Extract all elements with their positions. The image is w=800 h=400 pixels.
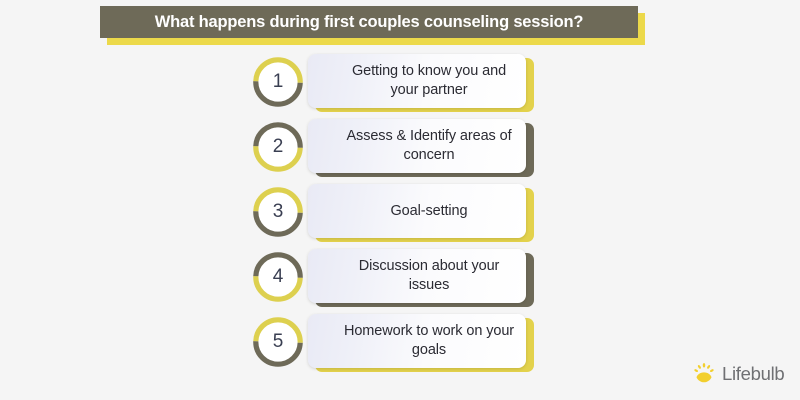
title-bar: What happens during first couples counse… [100,6,638,38]
brand-name: Lifebulb [722,363,784,385]
page-title: What happens during first couples counse… [100,6,638,38]
step-card[interactable]: Discussion about your issues [308,249,526,303]
step-label: Getting to know you and your partner [342,62,516,99]
step-item[interactable]: Discussion about your issues4 [253,249,538,305]
step-label: Goal-setting [391,202,468,221]
step-number: 5 [253,317,303,367]
step-item[interactable]: Getting to know you and your partner1 [253,54,538,110]
step-card[interactable]: Goal-setting [308,184,526,238]
step-card[interactable]: Getting to know you and your partner [308,54,526,108]
step-item[interactable]: Homework to work on your goals5 [253,314,538,370]
step-item[interactable]: Assess & Identify areas of concern2 [253,119,538,175]
brand-logo: Lifebulb [692,362,784,386]
step-label: Assess & Identify areas of concern [342,127,516,164]
step-label: Discussion about your issues [342,257,516,294]
step-number: 4 [253,252,303,302]
step-label: Homework to work on your goals [342,322,516,359]
sunburst-bulb-icon [692,362,716,386]
step-number-badge: 5 [253,317,303,367]
step-card[interactable]: Assess & Identify areas of concern [308,119,526,173]
step-item[interactable]: Goal-setting3 [253,184,538,240]
step-number-badge: 4 [253,252,303,302]
step-number-badge: 2 [253,122,303,172]
step-number: 3 [253,187,303,237]
step-number-badge: 1 [253,57,303,107]
step-number: 1 [253,57,303,107]
step-number: 2 [253,122,303,172]
step-number-badge: 3 [253,187,303,237]
page-title-text: What happens during first couples counse… [155,13,584,32]
step-card[interactable]: Homework to work on your goals [308,314,526,368]
steps-list: Getting to know you and your partner1Ass… [253,54,538,379]
